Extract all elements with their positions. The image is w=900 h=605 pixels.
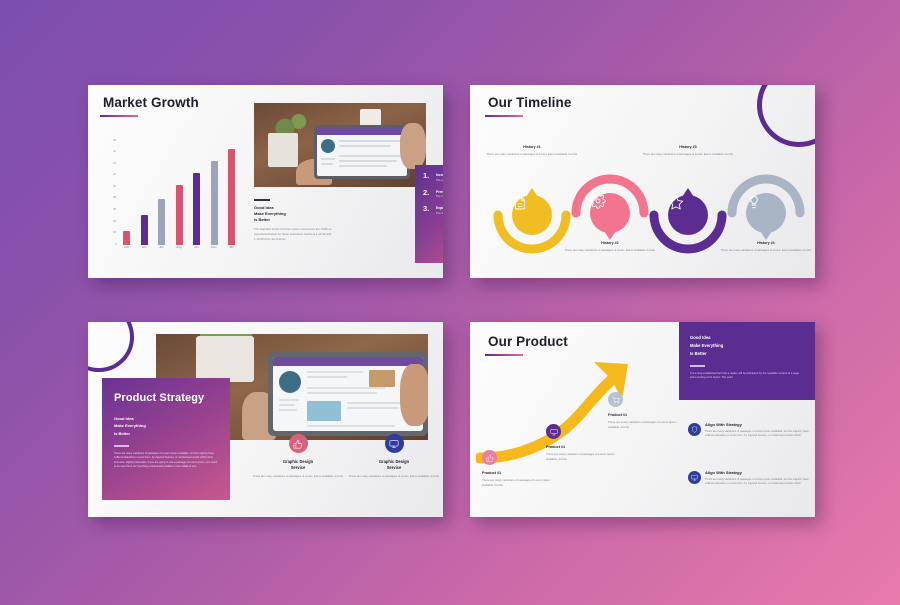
list-item-heading: Premium Bullion xyxy=(436,190,443,194)
panel-title: Product Strategy xyxy=(114,392,218,404)
chart-y-tick: 10 xyxy=(113,186,116,188)
document-icon xyxy=(512,195,552,235)
timeline-label-title: History #2 xyxy=(562,241,658,246)
chart-y-tick: 12 xyxy=(113,174,116,176)
chart-bar xyxy=(193,173,200,245)
timeline-node[interactable] xyxy=(590,193,630,233)
list-item-heading: Expanding Economy xyxy=(436,206,443,210)
list-item: 1.Increased DemandThe standard chunk of … xyxy=(423,173,443,183)
slide-product-strategy[interactable]: Product Strategy Good IdeaMake Everythin… xyxy=(88,322,443,517)
product-label: Product #1 xyxy=(546,445,620,450)
timeline-label-title: History #1 xyxy=(484,145,580,150)
panel-rule xyxy=(690,365,705,366)
timeline-label-title: History #3 xyxy=(640,145,736,150)
chart-y-tick: 04 xyxy=(113,221,116,223)
shield-icon xyxy=(688,423,701,436)
timeline-label-title: History #4 xyxy=(718,241,814,246)
list-item: 2.Premium BullionThe standard chunk of L… xyxy=(423,190,443,200)
list-item-body: The standard chunk of Lorem Ipsum used s… xyxy=(436,195,443,199)
lightbulb-icon xyxy=(746,193,786,233)
decorative-ring xyxy=(88,322,134,372)
presentation-mockup-canvas: Market Growth 1816141210080604020 FebApr… xyxy=(0,0,900,605)
chart-y-tick: 14 xyxy=(113,163,116,165)
page-title: Our Product xyxy=(488,334,568,349)
align-body: There are many variations of passages of… xyxy=(705,478,810,487)
avatar xyxy=(279,371,301,393)
service-card[interactable]: Graphic DesignServiceThere are many vari… xyxy=(250,434,346,478)
tablet-photo xyxy=(254,103,426,187)
product-item[interactable]: Product #1There are many variations of p… xyxy=(608,392,682,429)
chart-x-tick: Feb xyxy=(119,246,135,249)
chart-x-tick: Aug xyxy=(171,246,187,249)
plant-pot xyxy=(268,133,298,167)
timeline-node[interactable] xyxy=(668,195,708,235)
app-header-bar xyxy=(317,128,407,135)
chart-x-tick: Oct xyxy=(189,246,205,249)
timeline-label: History #3There are many variations of p… xyxy=(640,145,736,157)
product-body: There are many variations of passages of… xyxy=(608,420,682,429)
timeline-label-body: There are many variations of passages of… xyxy=(484,152,580,156)
timeline-node[interactable] xyxy=(512,195,552,235)
slide-our-product[interactable]: Our Product Good IdeaMake EverythingIs B… xyxy=(470,322,815,517)
panel-headline: Good IdeaMake EverythingIs Better xyxy=(690,334,804,357)
align-title: Align With Strategy xyxy=(705,422,810,427)
chart-bar xyxy=(141,215,148,245)
monitor-icon xyxy=(546,424,561,439)
product-strategy-panel: Product Strategy Good IdeaMake Everythin… xyxy=(102,378,230,500)
chart-x-tick: Jun xyxy=(154,246,170,249)
panel-body: It is a long established fact that a rea… xyxy=(690,372,804,381)
chart-y-tick: 16 xyxy=(113,151,116,153)
timeline-label-body: There are many variations of passages of… xyxy=(718,248,814,252)
panel-subtitle: Good IdeaMake EverythingIs Better xyxy=(114,415,218,437)
title-accent-rule xyxy=(485,115,523,117)
timeline-label: History #4There are many variations of p… xyxy=(718,241,814,253)
slide-market-growth[interactable]: Market Growth 1816141210080604020 FebApr… xyxy=(88,85,443,278)
product-body: There are many variations of passages of… xyxy=(546,452,620,461)
product-item[interactable]: Product #1There are many variations of p… xyxy=(482,450,556,487)
lead-text-block: Good IdeaMake EverythingIs Better The st… xyxy=(254,199,334,242)
chart-y-tick: 18 xyxy=(113,140,116,142)
service-body: There are many variations of passages of… xyxy=(250,474,346,478)
lead-body: The standard chunk of Lorem Ipsum used s… xyxy=(254,227,334,241)
list-item-body: The standard chunk of Lorem Ipsum used s… xyxy=(436,212,443,216)
chart-bar xyxy=(123,231,130,245)
service-card[interactable]: Graphic DesignServiceThere are many vari… xyxy=(346,434,442,478)
panel-body: There are many variations of passages of… xyxy=(114,452,218,470)
product-label: Product #1 xyxy=(482,471,556,476)
numbered-feature-panel: 1.Increased DemandThe standard chunk of … xyxy=(415,165,443,263)
chart-bar xyxy=(228,149,235,245)
plant-pot xyxy=(196,336,254,382)
service-title: Graphic DesignService xyxy=(346,459,442,470)
title-accent-rule xyxy=(485,354,523,356)
timeline-label: History #1There are many variations of p… xyxy=(484,145,580,157)
thumbs-up-icon xyxy=(289,434,308,453)
panel-rule xyxy=(114,445,129,446)
avatar xyxy=(321,139,335,153)
chart-y-tick: 0 xyxy=(115,244,116,246)
chart-bar xyxy=(211,161,218,245)
page-title: Our Timeline xyxy=(488,95,571,110)
timeline-label: History #2There are many variations of p… xyxy=(562,241,658,253)
monitor-icon xyxy=(688,471,701,484)
monitor-icon xyxy=(385,434,404,453)
align-title: Align With Strategy xyxy=(705,470,810,475)
list-item-heading: Increased Demand xyxy=(436,173,443,177)
service-title: Graphic DesignService xyxy=(250,459,346,470)
chart-y-tick: 06 xyxy=(113,209,116,211)
list-item-body: The standard chunk of Lorem Ipsum used s… xyxy=(436,179,443,183)
service-body: There are many variations of passages of… xyxy=(346,474,442,478)
align-item[interactable]: Align With StrategyThere are many variat… xyxy=(688,470,810,486)
chart-bar xyxy=(158,199,165,245)
slide-our-timeline[interactable]: Our Timeline History #1There are many va… xyxy=(470,85,815,278)
page-title: Market Growth xyxy=(103,95,199,110)
thumbs-up-icon xyxy=(482,450,497,465)
cart-icon xyxy=(608,392,623,407)
hand-right xyxy=(400,123,426,169)
timeline-node[interactable] xyxy=(746,193,786,233)
product-label: Product #1 xyxy=(608,413,682,418)
chart-plot-area xyxy=(117,141,248,245)
lead-headline: Good IdeaMake EverythingIs Better xyxy=(254,205,334,224)
timeline-label-body: There are many variations of passages of… xyxy=(640,152,736,156)
chart-y-axis: 1816141210080604020 xyxy=(102,141,116,245)
chart-bar xyxy=(176,185,183,245)
app-header-bar xyxy=(273,357,423,366)
align-item[interactable]: Align With StrategyThere are many variat… xyxy=(688,422,810,438)
tablet-device xyxy=(314,125,410,179)
lead-rule xyxy=(254,199,270,201)
list-item-number: 2. xyxy=(423,189,429,197)
list-item-number: 3. xyxy=(423,205,429,213)
chart-y-tick: 02 xyxy=(113,232,116,234)
title-accent-rule xyxy=(100,115,138,117)
hand-right xyxy=(400,364,428,426)
chart-x-tick: Dec xyxy=(206,246,222,249)
chart-x-tick: Apr xyxy=(136,246,152,249)
list-item-number: 1. xyxy=(423,172,429,180)
chart-y-tick: 08 xyxy=(113,198,116,200)
tablet-screen xyxy=(317,128,407,176)
gear-icon xyxy=(590,193,630,233)
timeline-label-body: There are many variations of passages of… xyxy=(562,248,658,252)
list-item: 3.Expanding EconomyThe standard chunk of… xyxy=(423,206,443,216)
product-body: There are many variations of passages of… xyxy=(482,478,556,487)
market-growth-bar-chart: 1816141210080604020 FebAprJunAugOctDecJa… xyxy=(102,141,248,263)
timeline: History #1There are many variations of p… xyxy=(478,129,807,269)
chart-x-axis: FebAprJunAugOctDecJan xyxy=(117,246,248,256)
chart-x-tick: Jan xyxy=(224,246,240,249)
product-item[interactable]: Product #1There are many variations of p… xyxy=(546,424,620,461)
good-idea-panel: Good IdeaMake EverythingIs Better It is … xyxy=(679,322,815,400)
align-body: There are many variations of passages of… xyxy=(705,430,810,439)
star-icon xyxy=(668,195,708,235)
